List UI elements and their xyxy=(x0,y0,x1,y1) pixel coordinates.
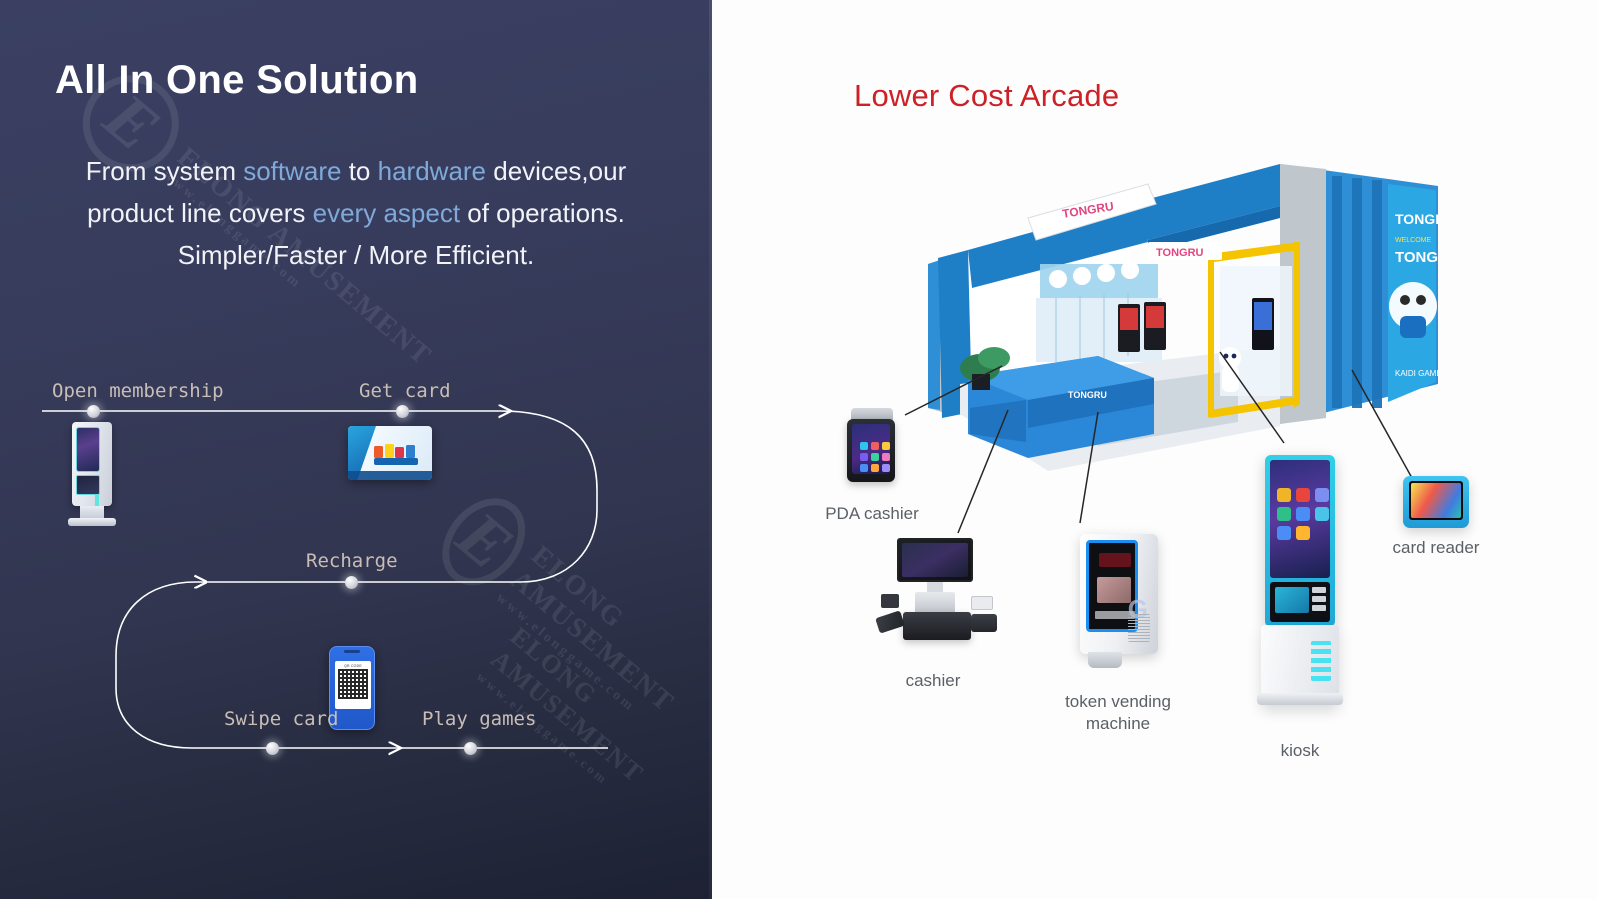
device-cashier xyxy=(875,538,995,648)
flow-step-label-open-membership: Open membership xyxy=(52,380,224,402)
flow-step-label-play-games: Play games xyxy=(422,708,536,730)
flow-step-label-swipe-card: Swipe card xyxy=(224,708,338,730)
paragraph-line1-b: to xyxy=(341,156,377,186)
flow-node-dot-open-membership xyxy=(87,405,100,418)
qr-code-icon xyxy=(338,669,368,699)
device-token-vending-machine: G xyxy=(1070,528,1166,668)
page-title: All In One Solution xyxy=(55,58,418,103)
paragraph-highlight-every: every xyxy=(313,198,377,228)
intro-paragraph: From system software to hardware devices… xyxy=(56,150,656,276)
label-token-vending-machine: token vending machine xyxy=(1038,691,1198,735)
device-membership-card xyxy=(348,426,432,480)
flow-step-label-get-card: Get card xyxy=(359,380,451,402)
label-cashier: cashier xyxy=(850,670,1016,692)
device-card-reader xyxy=(1403,476,1469,528)
paragraph-line1-a: From system xyxy=(86,156,243,186)
flow-node-dot-get-card xyxy=(396,405,409,418)
device-self-service-membership-kiosk xyxy=(64,422,120,526)
label-pda-cashier: PDA cashier xyxy=(782,503,962,525)
qr-code-caption: QR CODE xyxy=(338,664,368,668)
flow-node-dot-swipe-card xyxy=(266,742,279,755)
left-dark-panel: ELONG AMUSEMENT www.elonggame.com ELONG … xyxy=(0,0,712,899)
device-pda-cashier xyxy=(845,408,899,482)
paragraph-highlight-software: software xyxy=(243,156,341,186)
right-white-panel: Lower Cost Arcade TONGRU WELCOME TONG RU xyxy=(712,0,1598,899)
flow-node-dot-recharge xyxy=(345,576,358,589)
customer-journey-flow: Open membership Get card Recharge xyxy=(0,370,712,880)
slide-root: ELONG AMUSEMENT www.elonggame.com ELONG … xyxy=(0,0,1598,899)
device-kiosk xyxy=(1257,455,1343,705)
paragraph-line3-b: of operations. xyxy=(460,198,625,228)
label-card-reader: card reader xyxy=(1356,537,1516,559)
paragraph-highlight-aspect: aspect xyxy=(383,198,460,228)
flow-node-dot-play-games xyxy=(464,742,477,755)
label-kiosk: kiosk xyxy=(1220,740,1380,762)
flow-step-label-recharge: Recharge xyxy=(306,550,398,572)
paragraph-line4: Simpler/Faster / More Efficient. xyxy=(178,240,534,270)
paragraph-highlight-hardware: hardware xyxy=(378,156,486,186)
